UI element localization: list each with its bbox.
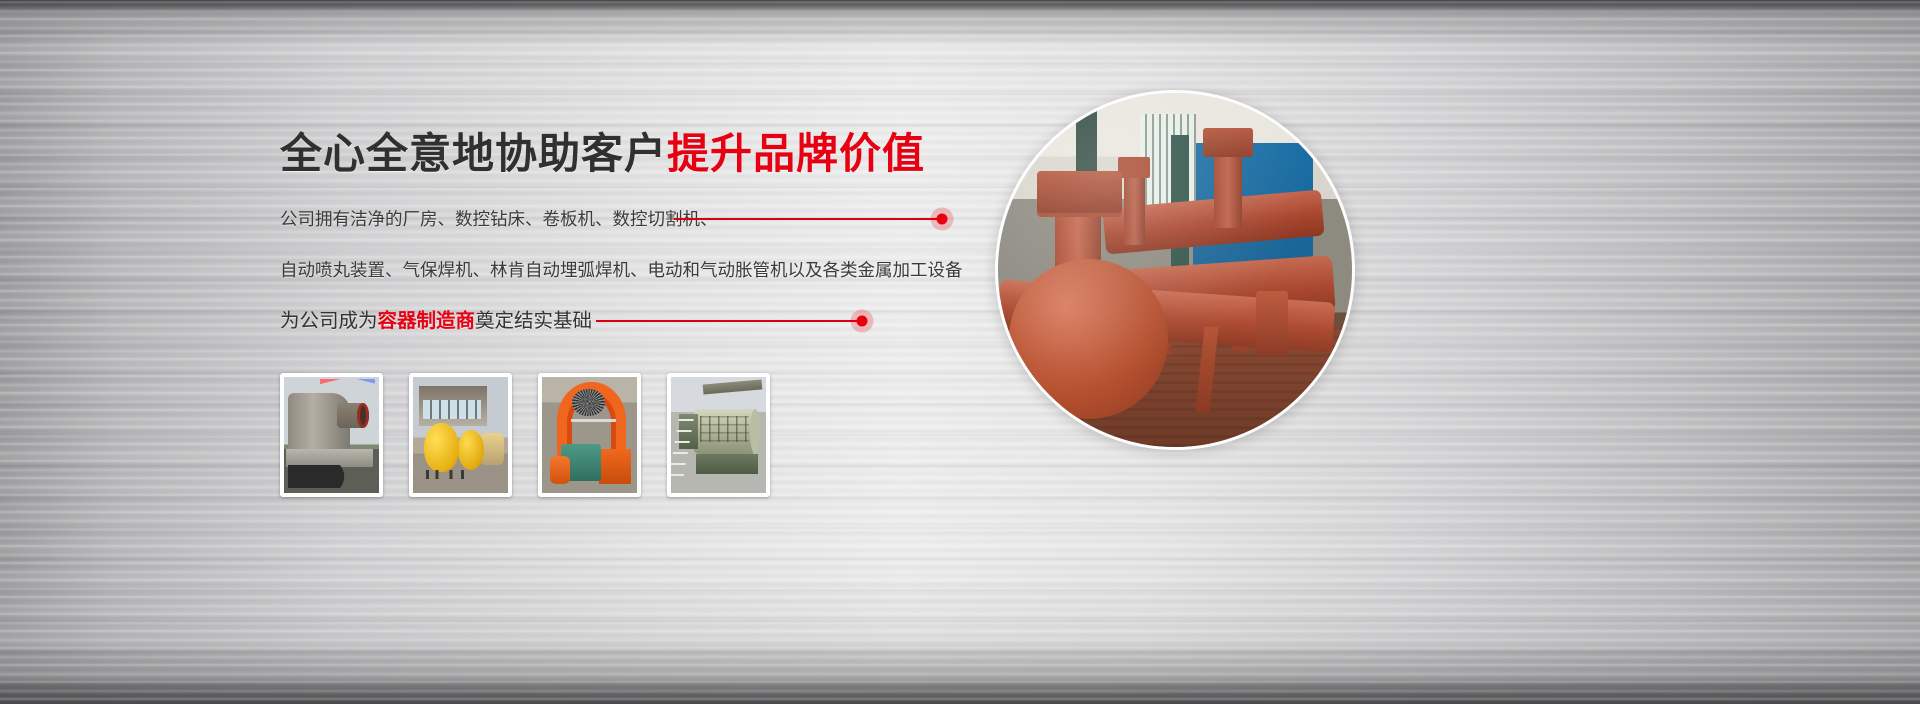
thumbnail-yellow-tanks[interactable]: 厂区内黄色储罐设备: [409, 373, 512, 497]
thumbnail-yellow-tanks-image: 厂区内黄色储罐设备: [413, 377, 508, 493]
tagline-suffix: 奠定结实基础: [475, 310, 592, 332]
thumbnail-orange-crusher[interactable]: 橙色大型破碎机设备: [538, 373, 641, 497]
description-line-1-text: 公司拥有洁净的厂房、数控钻床、卷板机、数控切割机、: [280, 209, 718, 229]
thumbnail-vessel-transport-image: 大型压力容器筒体装载于平板拖车运输: [284, 377, 379, 493]
thumbnail-vessel-transport-alt: 大型压力容器筒体装载于平板拖车运输: [284, 377, 285, 378]
headline-highlight-text: 提升品牌价值: [667, 130, 925, 177]
thumbnail-orange-crusher-image: 橙色大型破碎机设备: [542, 377, 637, 493]
description-block: 公司拥有洁净的厂房、数控钻床、卷板机、数控切割机、 自动喷丸装置、气保焊机、林肯…: [280, 211, 1000, 332]
description-line-1: 公司拥有洁净的厂房、数控钻床、卷板机、数控切割机、: [280, 211, 1000, 229]
thumbnail-gallery: 大型压力容器筒体装载于平板拖车运输 厂区内黄色储罐设备: [280, 373, 1000, 497]
decorative-dot-2: [857, 316, 868, 327]
tagline-keyword: 容器制造商: [378, 310, 476, 332]
thumbnail-yellow-tanks-alt: 厂区内黄色储罐设备: [413, 377, 414, 378]
hero-circle-image: 红色防锈漆压力容器集箱与法兰管道: [998, 93, 1352, 447]
thumbnail-orange-crusher-alt: 橙色大型破碎机设备: [542, 377, 543, 378]
description-line-2: 自动喷丸装置、气保焊机、林肯自动埋弧焊机、电动和气动胀管机以及各类金属加工设备: [280, 262, 1000, 280]
banner-content: 全心全意地协助客户提升品牌价值 公司拥有洁净的厂房、数控钻床、卷板机、数控切割机…: [280, 128, 1000, 497]
thumbnail-ball-mill-alt: 车间内球磨机设备: [671, 377, 672, 378]
tagline: 为公司成为容器制造商奠定结实基础: [280, 312, 1000, 332]
thumbnail-vessel-transport[interactable]: 大型压力容器筒体装载于平板拖车运输: [280, 373, 383, 497]
thumbnail-ball-mill-image: 车间内球磨机设备: [671, 377, 766, 493]
page-title: 全心全意地协助客户提升品牌价值: [280, 128, 1000, 181]
headline-plain-text: 全心全意地协助客户: [280, 130, 667, 177]
decorative-rule-1: [674, 218, 938, 220]
description-line-2-text: 自动喷丸装置、气保焊机、林肯自动埋弧焊机、电动和气动胀管机以及各类金属加工设备: [280, 260, 963, 280]
hero-circle-pressure-vessel: 红色防锈漆压力容器集箱与法兰管道: [995, 90, 1355, 450]
decorative-rule-2: [596, 320, 858, 322]
tagline-prefix: 为公司成为: [280, 310, 378, 332]
thumbnail-ball-mill[interactable]: 车间内球磨机设备: [667, 373, 770, 497]
hero-banner: 全心全意地协助客户提升品牌价值 公司拥有洁净的厂房、数控钻床、卷板机、数控切割机…: [0, 0, 1920, 704]
decorative-dot-1: [937, 214, 948, 225]
